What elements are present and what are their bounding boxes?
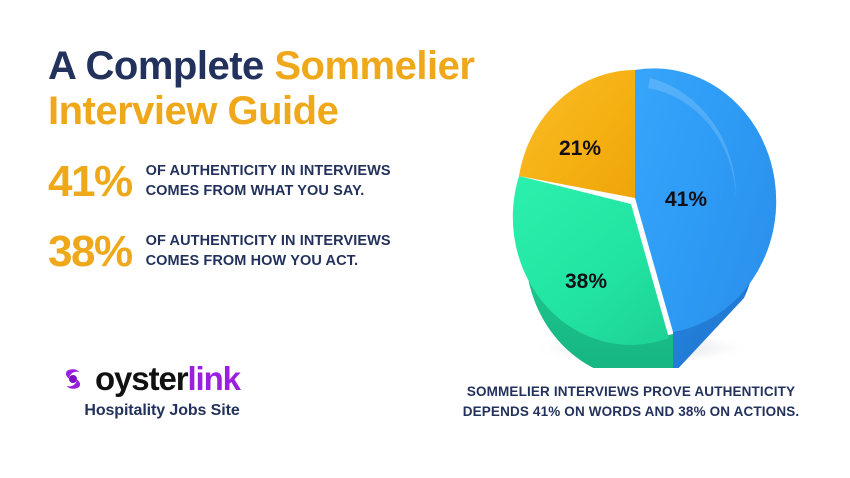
stat-description-line: COMES FROM HOW YOU ACT. [146,252,391,272]
logo-lockup: oysterlink [58,362,308,395]
pie-chart-svg: 41% 38% 21% [490,48,780,368]
logo-tagline: Hospitality Jobs Site [58,402,266,420]
pie-label-41: 41% [665,188,707,211]
title-part-primary: A Complete [48,44,274,88]
left-content-column: A Complete Sommelier Interview Guide 41%… [48,44,478,274]
page-title: A Complete Sommelier Interview Guide [48,44,478,134]
stat-row: 38% OF AUTHENTICITY IN INTERVIEWS COMES … [48,230,478,274]
stat-description: OF AUTHENTICITY IN INTERVIEWS COMES FROM… [146,162,391,201]
stat-description: OF AUTHENTICITY IN INTERVIEWS COMES FROM… [146,232,391,271]
title-part-accent-2: Interview Guide [48,89,338,133]
oysterlink-logo-icon [58,364,88,394]
pie-chart: 41% 38% 21% [490,48,780,368]
stat-description-line: OF AUTHENTICITY IN INTERVIEWS [146,232,391,252]
brand-logo-block: oysterlink Hospitality Jobs Site [58,362,308,420]
stat-number: 38% [48,230,132,274]
pie-label-21: 21% [559,137,601,160]
logo-word-accent: link [187,360,239,397]
chart-caption-line: SOMMELIER INTERVIEWS PROVE AUTHENTICITY [440,382,822,402]
chart-caption-line: DEPENDS 41% ON WORDS AND 38% ON ACTIONS. [440,402,822,422]
infographic-canvas: A Complete Sommelier Interview Guide 41%… [0,0,850,478]
stat-description-line: OF AUTHENTICITY IN INTERVIEWS [146,162,391,182]
pie-slice-21 [519,70,635,198]
title-part-accent: Sommelier [274,44,474,88]
stat-row: 41% OF AUTHENTICITY IN INTERVIEWS COMES … [48,160,478,204]
logo-word-main: oyster [95,360,187,397]
logo-wordmark: oysterlink [95,362,240,395]
chart-caption: SOMMELIER INTERVIEWS PROVE AUTHENTICITY … [440,382,822,421]
stat-description-line: COMES FROM WHAT YOU SAY. [146,182,391,202]
pie-label-38: 38% [565,270,607,293]
stat-number: 41% [48,160,132,204]
